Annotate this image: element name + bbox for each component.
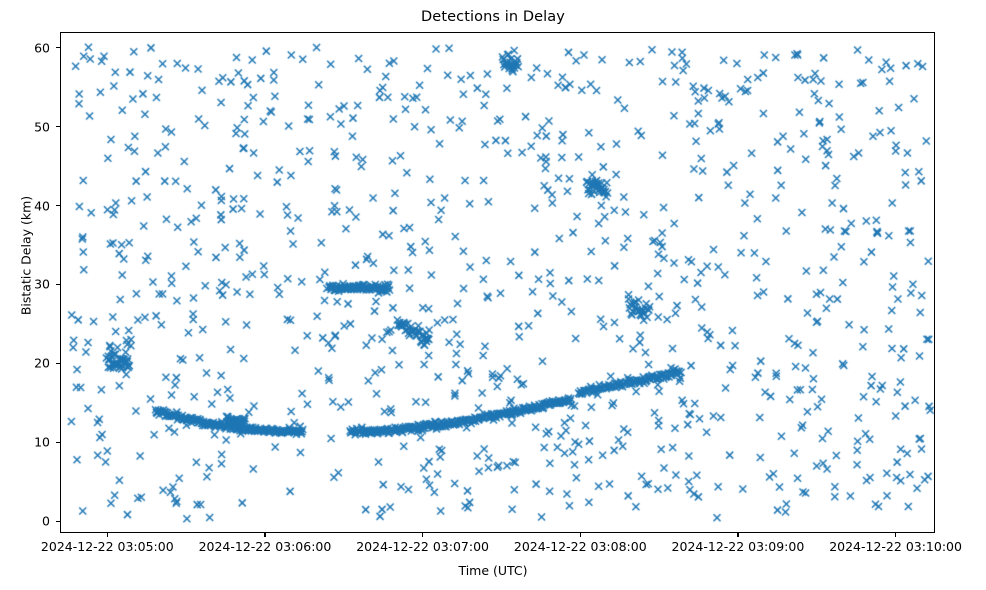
y-tick-label: 40 [34,198,50,213]
y-axis-tick-marks [56,32,60,533]
y-tick-label: 30 [34,277,50,292]
plot-area [60,32,935,533]
x-tick-mark [895,533,896,537]
y-tick-mark [56,126,60,127]
y-tick-mark [56,363,60,364]
y-tick-mark [56,442,60,443]
y-tick-mark [56,284,60,285]
x-tick-label: 2024-12-22 03:05:00 [41,539,174,554]
x-axis-tick-labels: 2024-12-22 03:05:002024-12-22 03:06:0020… [0,539,986,557]
y-tick-label: 50 [34,119,50,134]
y-tick-mark [56,205,60,206]
x-axis-tick-marks [60,533,935,537]
chart-title: Detections in Delay [0,9,986,25]
y-tick-label: 0 [42,514,50,529]
x-tick-mark [422,533,423,537]
x-tick-label: 2024-12-22 03:07:00 [356,539,489,554]
y-tick-mark [56,521,60,522]
chart-figure: Detections in Delay 0102030405060 2024-1… [0,0,986,590]
x-tick-label: 2024-12-22 03:10:00 [829,539,962,554]
y-tick-label: 10 [34,435,50,450]
x-tick-label: 2024-12-22 03:06:00 [199,539,332,554]
y-tick-mark [56,47,60,48]
x-tick-label: 2024-12-22 03:09:00 [672,539,805,554]
scatter-plot-canvas [61,33,935,533]
x-tick-mark [580,533,581,537]
y-tick-label: 20 [34,356,50,371]
y-axis-label: Bistatic Delay (km) [19,176,34,336]
x-tick-mark [737,533,738,537]
x-tick-mark [107,533,108,537]
y-tick-label: 60 [34,40,50,55]
x-tick-label: 2024-12-22 03:08:00 [514,539,647,554]
x-axis-label: Time (UTC) [0,563,986,578]
x-tick-mark [264,533,265,537]
